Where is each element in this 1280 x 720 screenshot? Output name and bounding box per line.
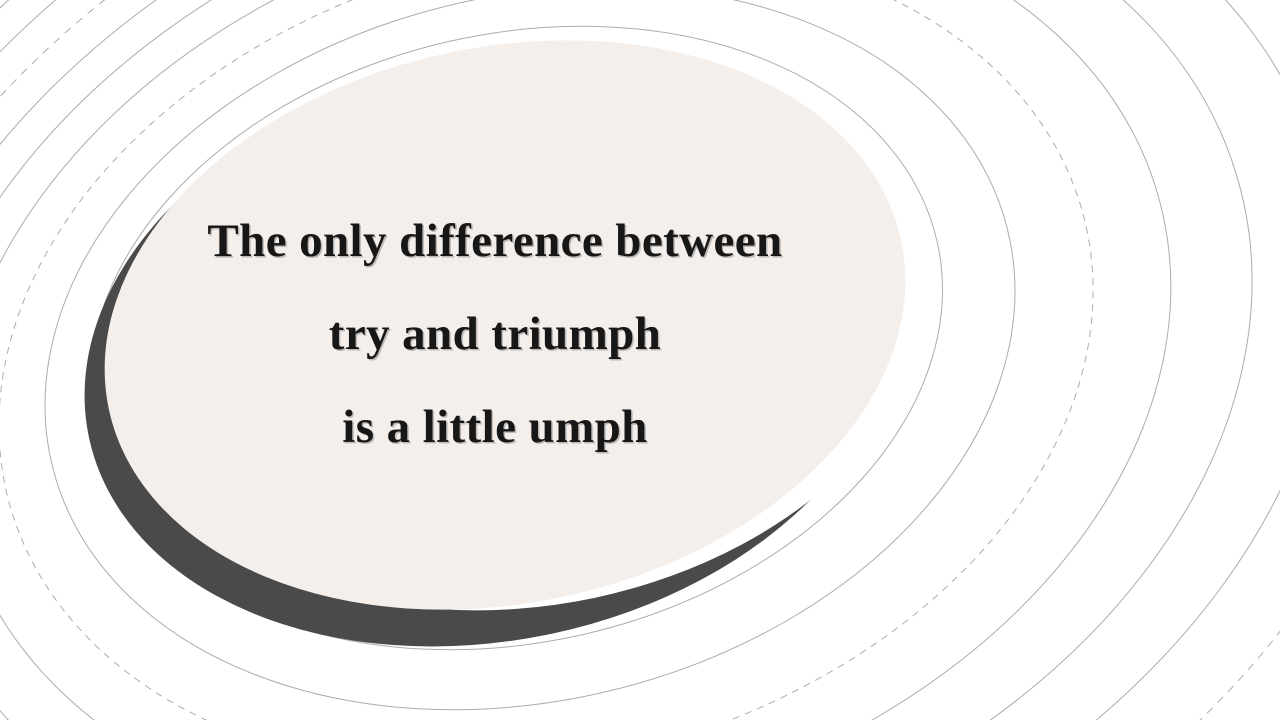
quote-line-1: The only difference between <box>100 195 890 288</box>
quote-text-block: The only difference between try and triu… <box>100 195 890 474</box>
quote-line-3: is a little umph <box>100 381 890 474</box>
quote-slide: The only difference between try and triu… <box>0 0 1280 720</box>
quote-line-2: try and triumph <box>100 288 890 381</box>
